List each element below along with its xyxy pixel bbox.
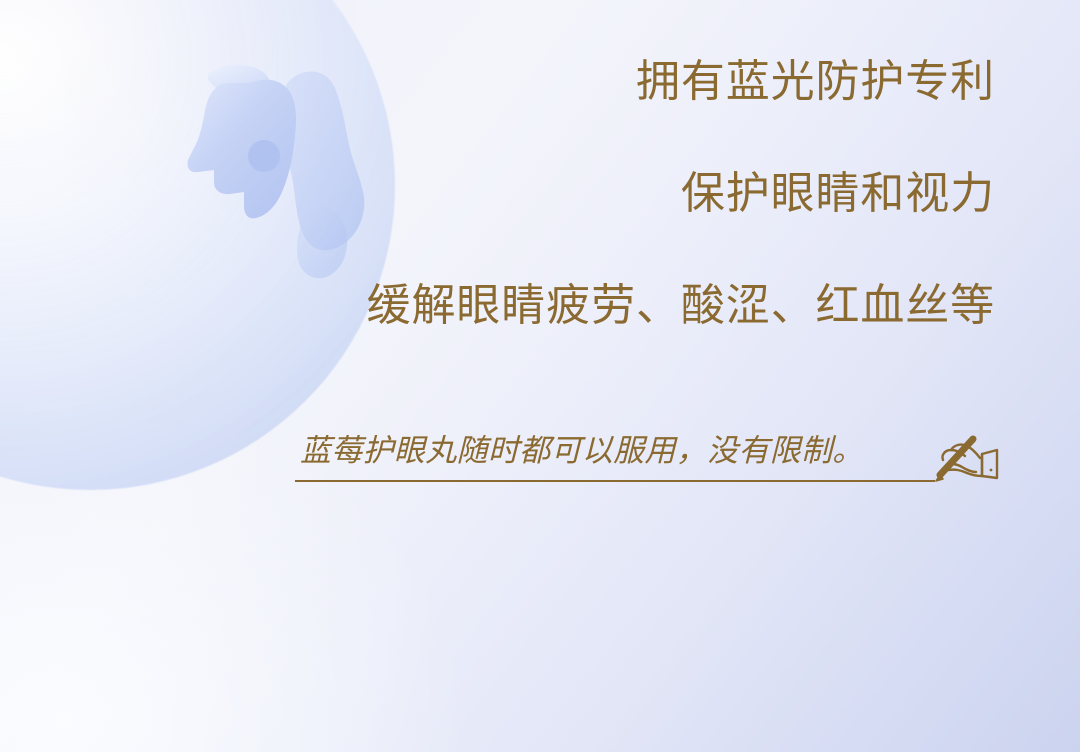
tagline-block: 蓝莓护眼丸随时都可以服用，没有限制。 — [295, 432, 1005, 490]
promo-banner: 拥有蓝光防护专利 保护眼睛和视力 缓解眼睛疲劳、酸涩、红血丝等 蓝莓护眼丸随时都… — [0, 0, 1080, 752]
headline-protect: 保护眼睛和视力 — [681, 172, 995, 216]
copy-block: 拥有蓝光防护专利 保护眼睛和视力 缓解眼睛疲劳、酸涩、红血丝等 蓝莓护眼丸随时都… — [0, 0, 1080, 752]
headline-patent: 拥有蓝光防护专利 — [636, 60, 995, 104]
tagline-underline — [295, 480, 935, 482]
writing-hand-icon — [927, 424, 1001, 486]
tagline-text: 蓝莓护眼丸随时都可以服用，没有限制。 — [300, 432, 864, 471]
headline-relieve: 缓解眼睛疲劳、酸涩、红血丝等 — [367, 284, 995, 328]
